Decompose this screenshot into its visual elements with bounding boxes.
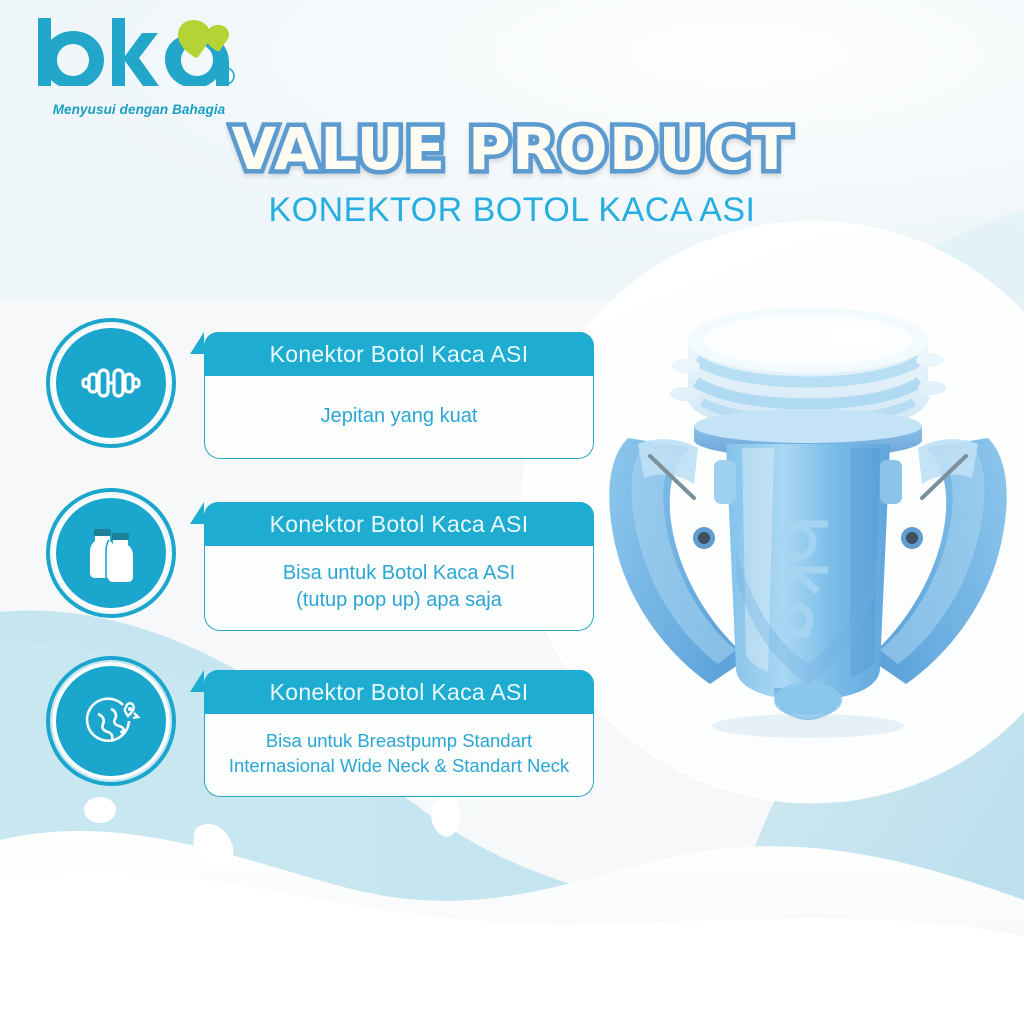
feature-card: Konektor Botol Kaca ASI Jepitan yang kua… xyxy=(204,332,594,459)
feature-body: Bisa untuk Breastpump Standart Internasi… xyxy=(204,714,594,797)
feature-line: Internasional Wide Neck & Standart Neck xyxy=(217,754,581,779)
feature-item: Konektor Botol Kaca ASI Bisa untuk Botol… xyxy=(52,488,612,656)
feature-line: Bisa untuk Breastpump Standart xyxy=(217,729,581,754)
title-block: VALUE PRODUCT KONEKTOR BOTOL KACA ASI xyxy=(0,118,1024,230)
page-subtitle: KONEKTOR BOTOL KACA ASI xyxy=(0,191,1024,230)
bka-logo-icon: R xyxy=(30,14,245,86)
feature-item: Konektor Botol Kaca ASI Jepitan yang kua… xyxy=(52,318,612,488)
svg-text:R: R xyxy=(223,72,230,83)
feature-heading: Konektor Botol Kaca ASI xyxy=(204,670,594,714)
feature-list: Konektor Botol Kaca ASI Jepitan yang kua… xyxy=(52,318,612,826)
page-title: VALUE PRODUCT xyxy=(232,118,793,181)
brand-logo: R Menyusui dengan Bahagia xyxy=(30,14,245,114)
brand-tagline: Menyusui dengan Bahagia xyxy=(34,102,244,117)
bottles-icon xyxy=(52,494,170,612)
dumbbell-icon xyxy=(52,324,170,442)
feature-heading: Konektor Botol Kaca ASI xyxy=(204,502,594,546)
feature-line: (tutup pop up) apa saja xyxy=(217,587,581,614)
feature-heading: Konektor Botol Kaca ASI xyxy=(204,332,594,376)
feature-body: Jepitan yang kuat xyxy=(204,376,594,459)
poster-canvas: R Menyusui dengan Bahagia VALUE PRODUCT … xyxy=(0,0,1024,1024)
feature-line: Bisa untuk Botol Kaca ASI xyxy=(217,560,581,587)
globe-pin-icon xyxy=(52,662,170,780)
product-image xyxy=(598,248,1018,748)
feature-card: Konektor Botol Kaca ASI Bisa untuk Botol… xyxy=(204,502,594,631)
feature-item: Konektor Botol Kaca ASI Bisa untuk Breas… xyxy=(52,656,612,826)
feature-body: Bisa untuk Botol Kaca ASI (tutup pop up)… xyxy=(204,546,594,631)
feature-card: Konektor Botol Kaca ASI Bisa untuk Breas… xyxy=(204,670,594,797)
feature-line: Jepitan yang kuat xyxy=(217,403,581,430)
